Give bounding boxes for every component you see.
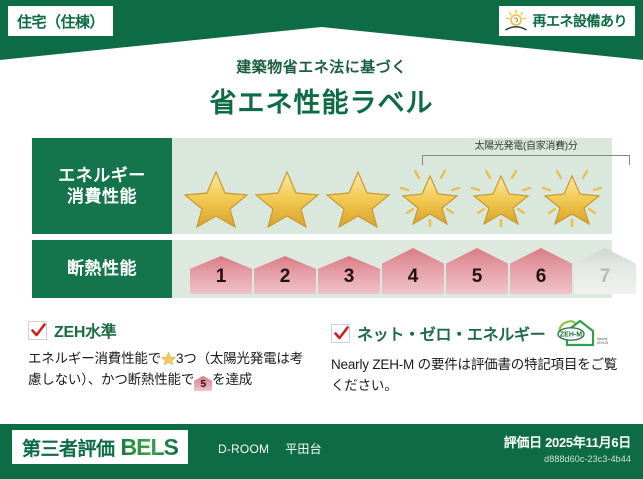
insulation-grade-scale: 1 2 3 4 5 6 7 <box>190 244 602 294</box>
note-net-zero-energy-title: ネット・ゼロ・エネルギー <box>357 321 545 345</box>
bels-jp-label: 第三者評価 <box>22 434 115 461</box>
notes-section: ZEH水準 エネルギー消費性能で3つ（太陽光発電は考慮しない）、かつ断熱性能で5… <box>28 318 618 397</box>
property-area: 平田台 <box>285 442 322 456</box>
title-subtitle: 建築物省エネ法に基づく <box>0 56 643 77</box>
insulation-performance-row: 断熱性能 1 2 3 4 5 6 7 <box>32 240 612 298</box>
star-solar-icon <box>468 166 534 228</box>
insulation-grade-badge: 4 <box>382 248 444 294</box>
note-zeh-standard-header: ZEH水準 <box>28 318 315 342</box>
note-zeh-standard: ZEH水準 エネルギー消費性能で3つ（太陽光発電は考慮しない）、かつ断熱性能で5… <box>28 318 315 397</box>
energy-performance-value: 太陽光発電(自家消費)分 <box>172 138 612 234</box>
sun-solar-icon <box>503 9 529 33</box>
star-icon <box>161 351 176 366</box>
note-net-zero-energy-body: Nearly ZEH-M の要件は評価書の特記項目をご覧ください。 <box>331 355 618 397</box>
note-net-zero-energy: ネット・ゼロ・エネルギー ZEH-M Nearly ZEH-M Nearly Z… <box>331 318 618 397</box>
housing-type-label: 住宅（住棟） <box>17 11 104 32</box>
insulation-grade-badge: 1 <box>190 256 252 294</box>
energy-performance-row: エネルギー 消費性能 太陽光発電(自家消費)分 <box>32 138 612 234</box>
bels-en-label: BELS <box>121 434 178 461</box>
note-body-part1: エネルギー消費性能で <box>28 351 161 366</box>
energy-star-rating <box>180 164 608 230</box>
svg-text:ZEH-M: ZEH-M <box>597 341 608 345</box>
bels-logo: 第三者評価 BELS <box>12 430 188 464</box>
note-body-part3: を達成 <box>212 372 252 387</box>
solar-bracket-label: 太陽光発電(自家消費)分 <box>420 141 632 153</box>
evaluation-id: d888d60c-23c3-4b44 <box>504 454 631 464</box>
evaluation-date: 評価日 2025年11月6日 <box>504 432 631 451</box>
zeh-m-house-logo: ZEH-M Nearly ZEH-M <box>554 318 608 348</box>
title-main: 省エネ性能ラベル <box>0 81 643 120</box>
insulation-performance-key: 断熱性能 <box>32 240 172 298</box>
insulation-grade-badge: 2 <box>254 256 316 294</box>
renewable-equipment-tag: 再エネ設備あり <box>499 6 636 36</box>
energy-performance-label: 住宅（住棟） 再エネ設備あり 建築物省エネ法に基づく 省エネ性能ラベル <box>0 0 643 479</box>
property-info: D-ROOM平田台 <box>218 440 322 457</box>
checkbox-checked-icon <box>28 321 47 340</box>
insulation-grade-inline-badge: 5 <box>194 376 212 391</box>
star-icon <box>254 166 320 228</box>
insulation-grade-badge: 5 <box>446 248 508 294</box>
page-title: 建築物省エネ法に基づく 省エネ性能ラベル <box>0 56 643 120</box>
note-net-zero-energy-header: ネット・ゼロ・エネルギー ZEH-M Nearly ZEH-M <box>331 318 618 348</box>
renewable-equipment-label: 再エネ設備あり <box>533 11 628 31</box>
insulation-performance-value: 1 2 3 4 5 6 7 <box>172 240 612 298</box>
star-icon <box>183 166 249 228</box>
insulation-key-label: 断熱性能 <box>67 258 137 279</box>
star-solar-icon <box>539 166 605 228</box>
checkbox-checked-icon <box>331 324 350 343</box>
energy-key-line2: 消費性能 <box>67 186 137 207</box>
housing-type-tag: 住宅（住棟） <box>8 6 113 36</box>
energy-key-line1: エネルギー <box>58 165 146 186</box>
star-solar-icon <box>397 166 463 228</box>
property-name: D-ROOM <box>218 442 269 456</box>
star-icon <box>325 166 391 228</box>
energy-performance-key: エネルギー 消費性能 <box>32 138 172 234</box>
footer: 第三者評価 BELS D-ROOM平田台 評価日 2025年11月6日 d888… <box>0 424 643 479</box>
svg-text:ZEH-M: ZEH-M <box>560 332 582 339</box>
note-zeh-standard-body: エネルギー消費性能で3つ（太陽光発電は考慮しない）、かつ断熱性能で5を達成 <box>28 349 315 391</box>
insulation-grade-badge: 3 <box>318 256 380 294</box>
insulation-grade-badge: 6 <box>510 248 572 294</box>
note-zeh-standard-title: ZEH水準 <box>54 318 117 342</box>
evaluation-info: 評価日 2025年11月6日 d888d60c-23c3-4b44 <box>504 432 631 464</box>
